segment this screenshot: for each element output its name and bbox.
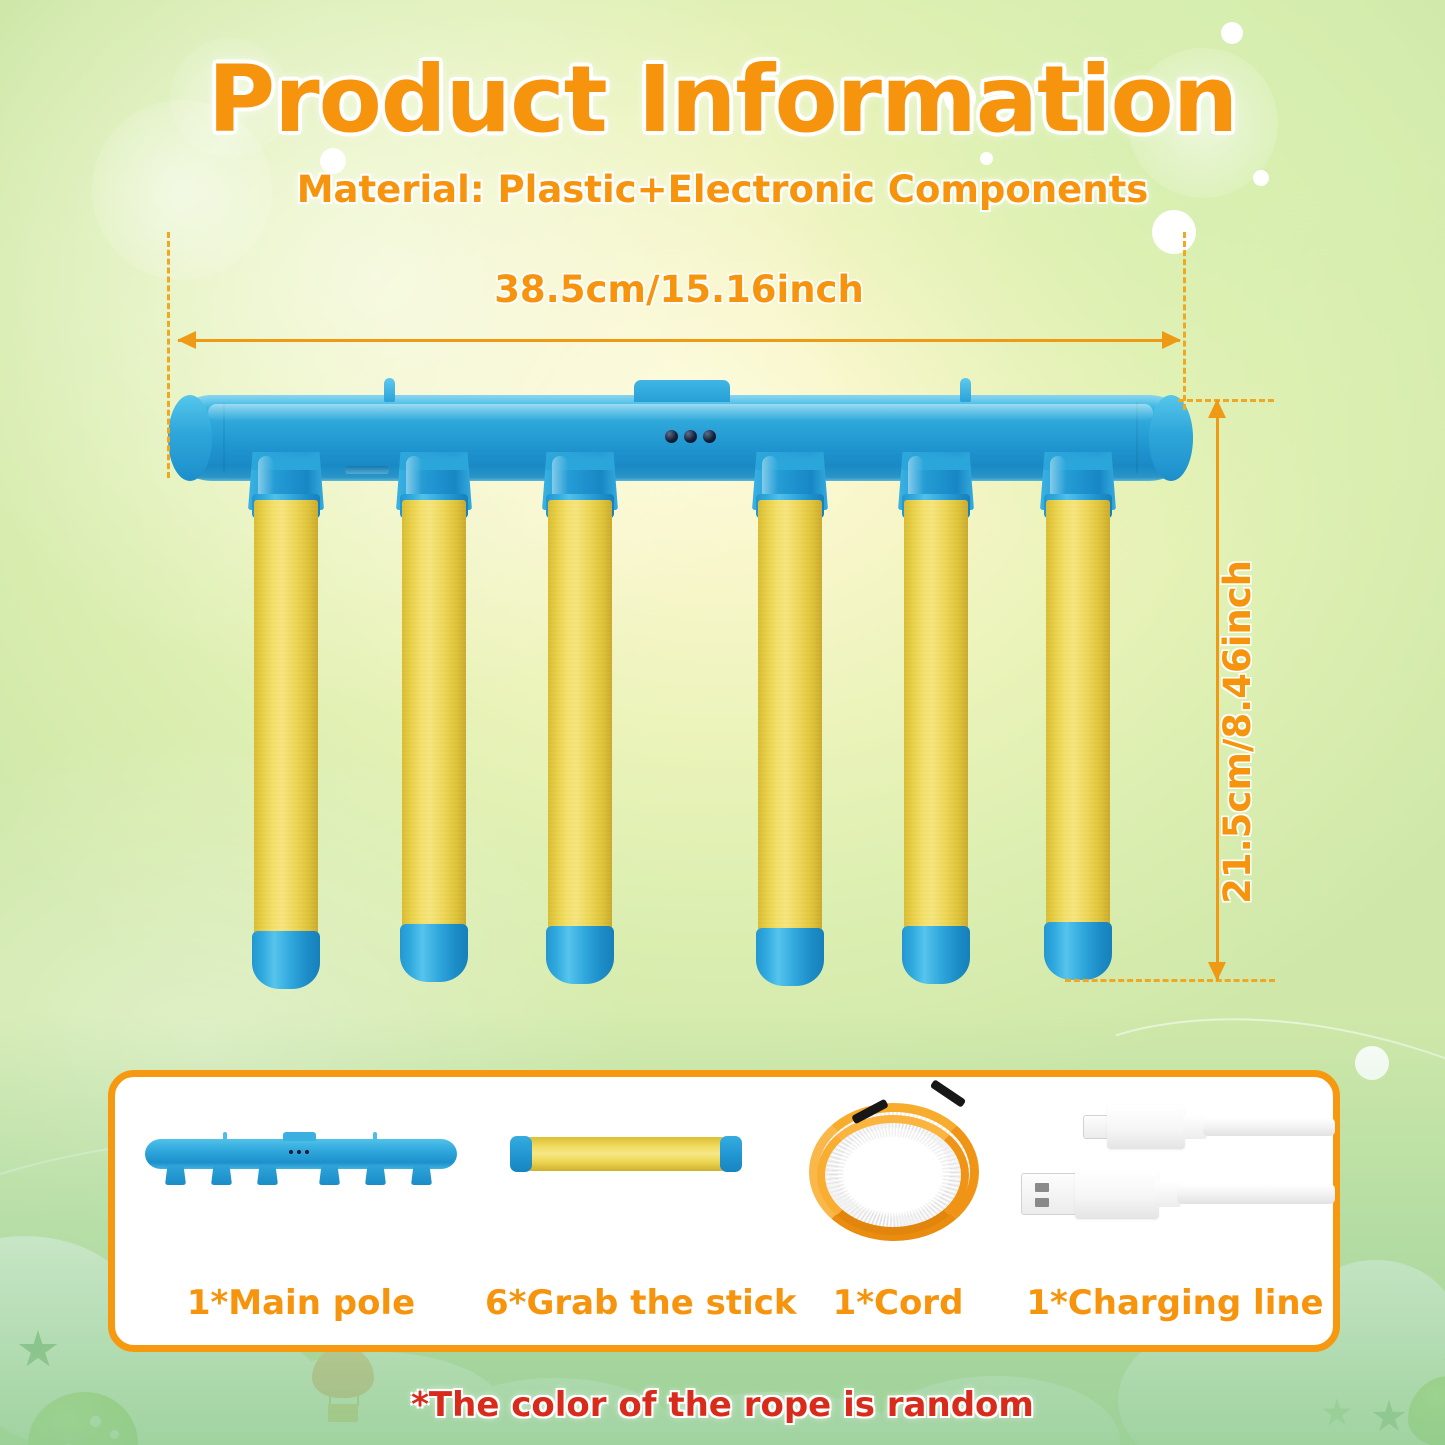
cord-braid-texture bbox=[825, 1123, 961, 1227]
stick-bottom-cap bbox=[1044, 922, 1112, 980]
usb-a-pin-2 bbox=[1035, 1198, 1049, 1207]
grab-stick-6 bbox=[1046, 500, 1110, 946]
usb-a-wire bbox=[1177, 1184, 1335, 1204]
grab-stick-5 bbox=[904, 500, 968, 950]
mini-socket-3 bbox=[257, 1165, 278, 1185]
stick-body bbox=[548, 500, 612, 950]
led-indicator-2 bbox=[684, 430, 697, 443]
stick-bottom-cap bbox=[546, 926, 614, 984]
stick-body bbox=[758, 500, 822, 952]
stick-body bbox=[904, 500, 968, 950]
main-pole-slot bbox=[345, 466, 389, 474]
stick-bottom-cap bbox=[400, 924, 468, 982]
contents-label-main-pole: 1*Main pole bbox=[123, 1283, 479, 1323]
mini-socket-2 bbox=[211, 1165, 232, 1185]
contents-item-main-pole: 1*Main pole bbox=[123, 1077, 479, 1345]
dimension-guide-right bbox=[1183, 232, 1186, 410]
material-subtitle: Material: Plastic+Electronic Components bbox=[0, 168, 1445, 211]
dimension-guide-left bbox=[167, 232, 170, 478]
rope-color-note: *The color of the rope is random bbox=[0, 1385, 1445, 1425]
mini-stick-cap-left bbox=[510, 1136, 532, 1172]
page-title: Product Information bbox=[0, 46, 1445, 153]
main-pole-icon bbox=[123, 1077, 479, 1267]
dimension-guide-bottom bbox=[1065, 979, 1275, 982]
grab-stick-3 bbox=[548, 500, 612, 950]
charging-cable-icon bbox=[1015, 1077, 1335, 1267]
mini-led-3 bbox=[305, 1150, 309, 1154]
stick-body bbox=[402, 500, 466, 948]
contents-item-grab-stick: 6*Grab the stick bbox=[485, 1077, 775, 1345]
usb-c-body bbox=[1107, 1105, 1185, 1149]
grab-stick-1 bbox=[254, 500, 318, 955]
contents-item-charging-line: 1*Charging line bbox=[1015, 1077, 1335, 1345]
contents-item-cord: 1*Cord bbox=[783, 1077, 1013, 1345]
grab-stick-4 bbox=[758, 500, 822, 952]
stick-body bbox=[254, 500, 318, 955]
usb-a-body bbox=[1075, 1169, 1159, 1219]
cord-loop-inner bbox=[817, 1115, 969, 1235]
main-pole-switch-plate bbox=[634, 380, 730, 402]
main-pole-left-cap bbox=[168, 395, 212, 481]
main-pole-highlight bbox=[208, 404, 1153, 421]
stick-bottom-cap bbox=[902, 926, 970, 984]
mini-switch-plate bbox=[283, 1132, 316, 1141]
cord-icon bbox=[783, 1077, 1013, 1267]
usb-a-tip bbox=[1021, 1173, 1079, 1215]
main-pole-nub-right bbox=[960, 378, 971, 402]
led-indicator-3 bbox=[703, 430, 716, 443]
stick-bottom-cap bbox=[252, 931, 320, 989]
width-dimension-label: 38.5cm/15.16inch bbox=[178, 268, 1180, 311]
mini-nub-left bbox=[223, 1132, 227, 1141]
mini-socket-5 bbox=[365, 1165, 386, 1185]
cord-coil bbox=[801, 1087, 991, 1262]
grab-stick-2 bbox=[402, 500, 466, 948]
height-dimension-label: 21.5cm/8.46inch bbox=[1216, 560, 1259, 904]
mini-led-1 bbox=[289, 1150, 293, 1154]
main-pole-bar bbox=[168, 395, 1193, 481]
package-contents-box: 1*Main pole 6*Grab the stick bbox=[108, 1070, 1340, 1352]
mini-socket-1 bbox=[165, 1165, 186, 1185]
main-pole-right-cap bbox=[1149, 395, 1193, 481]
usb-c-wire bbox=[1203, 1118, 1335, 1136]
led-indicator-1 bbox=[665, 430, 678, 443]
contents-label-cord: 1*Cord bbox=[783, 1283, 1013, 1323]
width-dimension-arrow bbox=[178, 339, 1180, 342]
stick-body bbox=[1046, 500, 1110, 946]
usb-c-tip bbox=[1083, 1115, 1109, 1139]
mini-grab-stick bbox=[510, 1137, 742, 1171]
contents-label-charging-line: 1*Charging line bbox=[1015, 1283, 1335, 1323]
cord-aglet-right bbox=[930, 1079, 967, 1108]
mini-socket-4 bbox=[319, 1165, 340, 1185]
usb-a-connector bbox=[1021, 1169, 1335, 1219]
mini-led-2 bbox=[297, 1150, 301, 1154]
grab-stick-icon bbox=[485, 1077, 775, 1267]
dimension-guide-top bbox=[1178, 399, 1274, 402]
contents-label-grab-stick: 6*Grab the stick bbox=[485, 1283, 775, 1323]
mini-socket-6 bbox=[411, 1165, 432, 1185]
mini-main-pole-bar bbox=[145, 1139, 457, 1169]
usb-a-pin-1 bbox=[1035, 1183, 1049, 1192]
usb-c-connector bbox=[1083, 1105, 1335, 1149]
mini-nub-right bbox=[373, 1132, 377, 1141]
mini-stick-body bbox=[528, 1137, 724, 1171]
stick-bottom-cap bbox=[756, 928, 824, 986]
main-pole-nub-left bbox=[384, 378, 395, 402]
mini-stick-cap-right bbox=[720, 1136, 742, 1172]
